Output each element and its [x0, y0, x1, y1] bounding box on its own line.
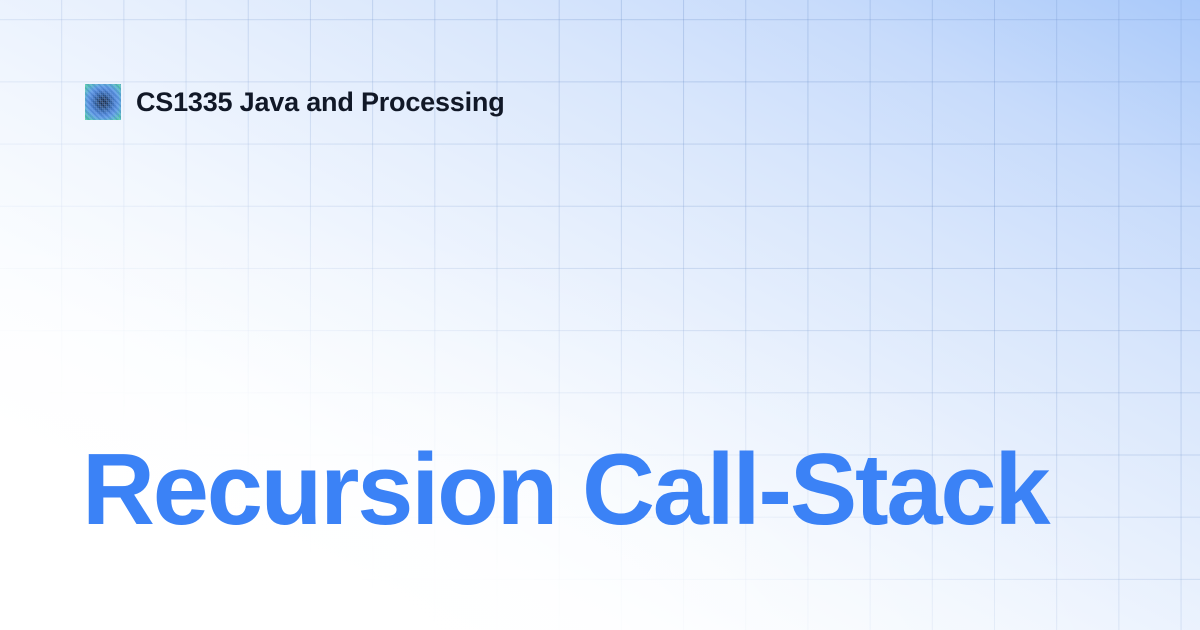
page-title: Recursion Call-Stack [82, 440, 1122, 541]
site-name-label: CS1335 Java and Processing [136, 89, 505, 116]
open-graph-card: CS1335 Java and Processing Recursion Cal… [0, 0, 1200, 630]
site-favicon-icon [85, 84, 121, 120]
site-header: CS1335 Java and Processing [85, 83, 505, 121]
favicon-pixel-texture [85, 84, 121, 120]
